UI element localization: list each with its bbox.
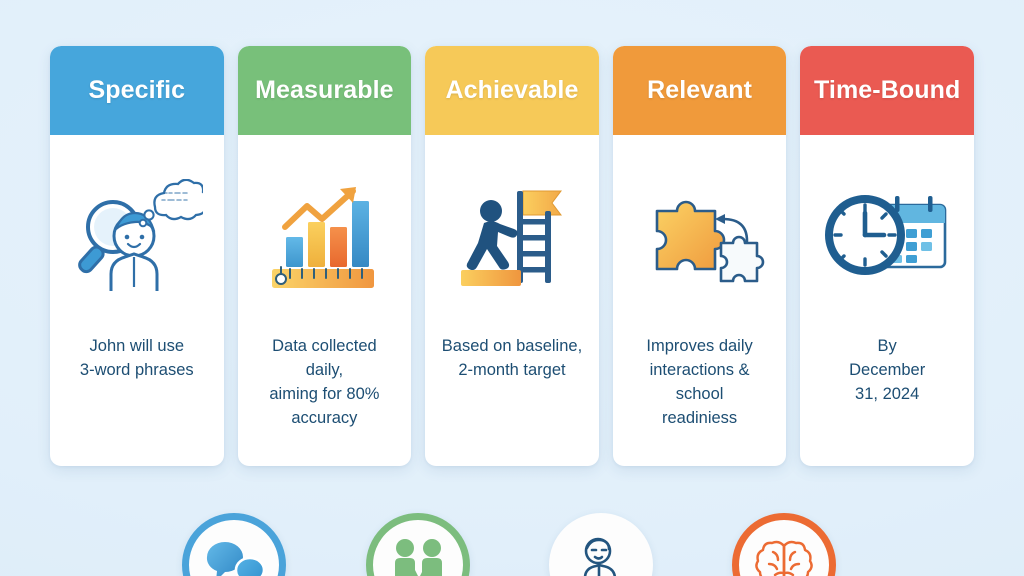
- badge-child-development[interactable]: [549, 513, 653, 576]
- magnifier-child-speech-bubble-icon: [71, 135, 203, 335]
- smart-card-achievable[interactable]: Achievable: [425, 46, 599, 466]
- child-figure-icon: [572, 536, 630, 576]
- bar-chart-ruler-icon: [260, 135, 388, 335]
- badge-social-interaction[interactable]: [366, 513, 470, 576]
- two-people-holding-hands-icon: [388, 537, 448, 576]
- card-title: Measurable: [255, 76, 394, 105]
- card-body: Improves daily interactions & school rea…: [613, 135, 787, 466]
- card-body: By December 31, 2024: [800, 135, 974, 466]
- card-header-relevant: Relevant: [613, 46, 787, 135]
- badge-row: [0, 513, 1024, 576]
- smart-card-time-bound[interactable]: Time-Bound: [800, 46, 974, 466]
- badge-cognitive[interactable]: [732, 513, 836, 576]
- brain-icon: [755, 538, 813, 576]
- smart-card-specific[interactable]: Specific: [50, 46, 224, 466]
- card-header-time-bound: Time-Bound: [800, 46, 974, 135]
- card-header-achievable: Achievable: [425, 46, 599, 135]
- card-title: Relevant: [647, 76, 752, 105]
- infographic-canvas: Specific: [0, 0, 1024, 576]
- card-header-specific: Specific: [50, 46, 224, 135]
- card-description: Improves daily interactions & school rea…: [623, 335, 777, 431]
- card-body: John will use 3-word phrases: [50, 135, 224, 466]
- card-description: Based on baseline, 2-month target: [436, 335, 588, 383]
- card-description: John will use 3-word phrases: [74, 335, 200, 383]
- card-title: Specific: [88, 76, 185, 105]
- card-title: Achievable: [445, 76, 578, 105]
- card-description: Data collected daily, aiming for 80% acc…: [248, 335, 402, 431]
- card-title: Time-Bound: [814, 76, 960, 105]
- smart-goal-card-row: Specific: [50, 46, 974, 466]
- card-header-measurable: Measurable: [238, 46, 412, 135]
- card-description: By December 31, 2024: [843, 335, 931, 407]
- card-body: Based on baseline, 2-month target: [425, 135, 599, 466]
- puzzle-pieces-arrow-icon: [635, 135, 765, 335]
- card-body: Data collected daily, aiming for 80% acc…: [238, 135, 412, 466]
- person-climbing-ladder-flag-icon: [449, 135, 575, 335]
- clock-calendar-icon: [821, 135, 953, 335]
- smart-card-measurable[interactable]: Measurable: [238, 46, 412, 466]
- badge-communication[interactable]: [182, 513, 286, 576]
- smart-card-relevant[interactable]: Relevant: [613, 46, 787, 466]
- speech-bubbles-icon: [203, 537, 265, 576]
